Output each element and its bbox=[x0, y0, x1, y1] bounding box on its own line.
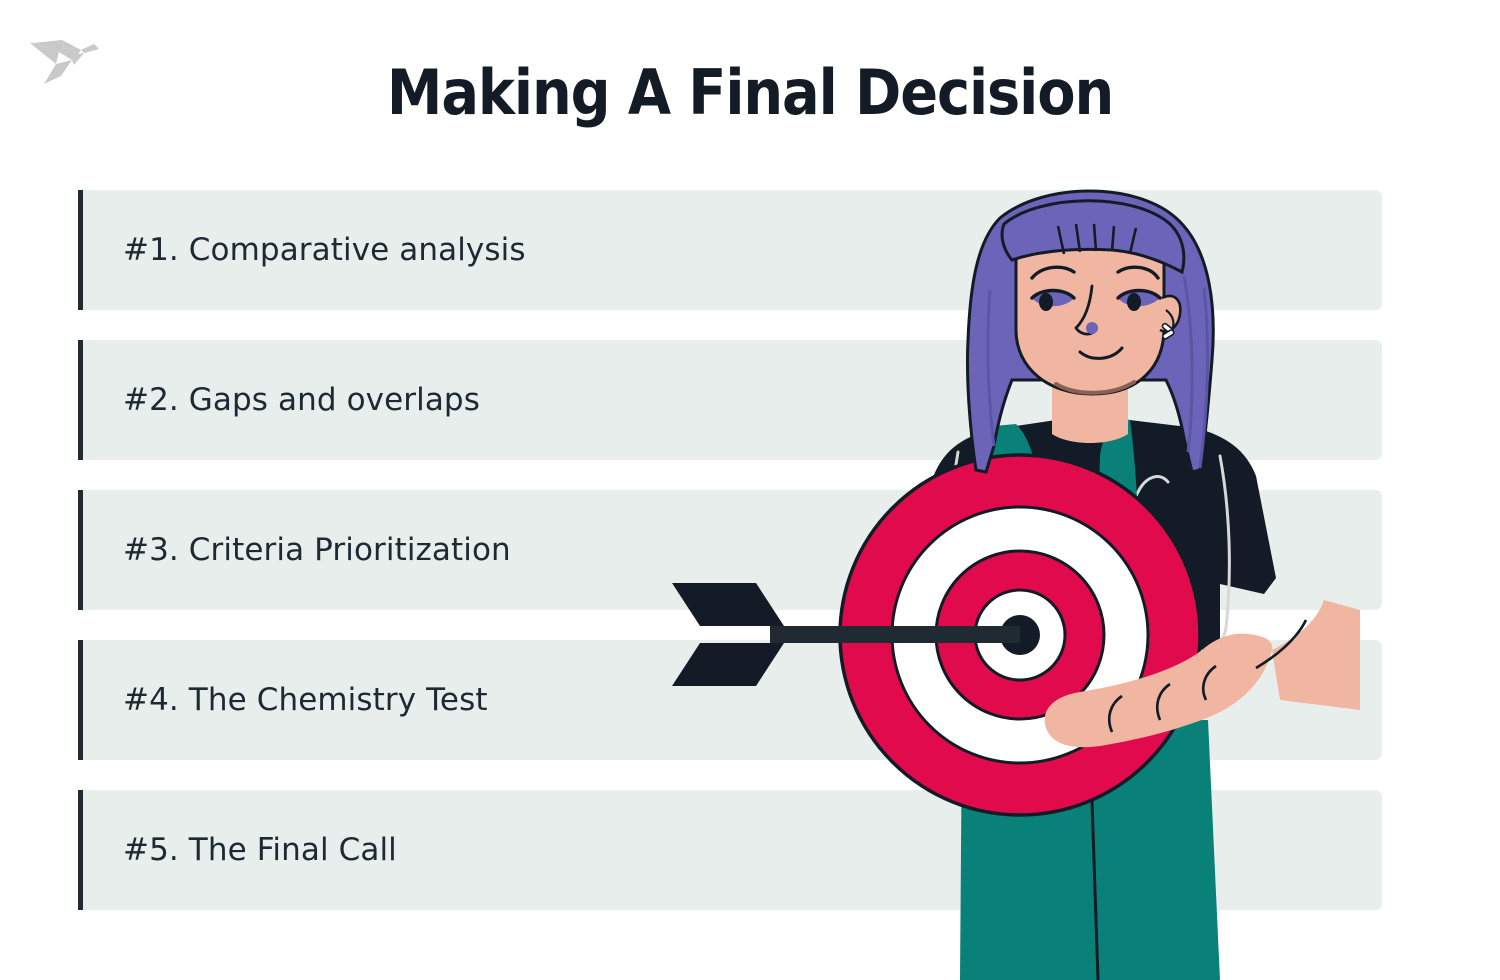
list-item[interactable]: #3. Criteria Prioritization bbox=[78, 490, 1382, 610]
slide-canvas: Making A Final Decision #1. Comparative … bbox=[0, 0, 1500, 980]
list-item[interactable]: #4. The Chemistry Test bbox=[78, 640, 1382, 760]
page-title: Making A Final Decision bbox=[75, 56, 1425, 129]
list-item[interactable]: #1. Comparative analysis bbox=[78, 190, 1382, 310]
list-item-label: #4. The Chemistry Test bbox=[83, 682, 488, 718]
list-item-label: #5. The Final Call bbox=[83, 832, 397, 868]
list-item-label: #1. Comparative analysis bbox=[83, 232, 526, 268]
list-item-label: #2. Gaps and overlaps bbox=[83, 382, 480, 418]
decision-steps-list: #1. Comparative analysis #2. Gaps and ov… bbox=[78, 190, 1382, 940]
list-item-label: #3. Criteria Prioritization bbox=[83, 532, 511, 568]
list-item[interactable]: #2. Gaps and overlaps bbox=[78, 340, 1382, 460]
list-item[interactable]: #5. The Final Call bbox=[78, 790, 1382, 910]
